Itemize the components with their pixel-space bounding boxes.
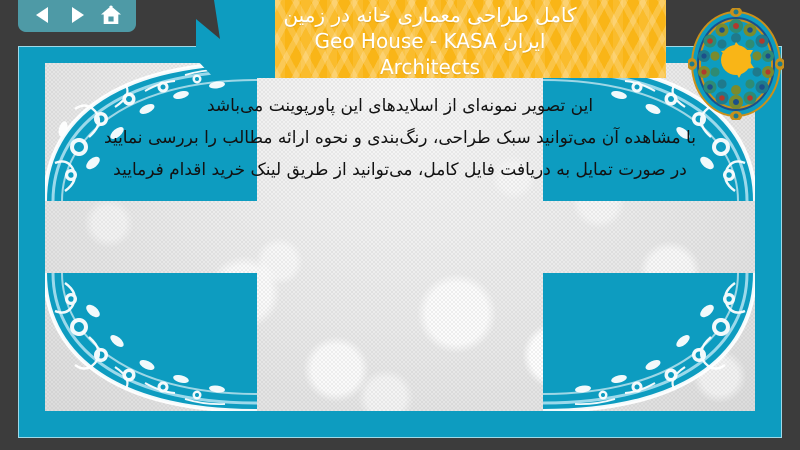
- home-button[interactable]: [98, 3, 124, 27]
- body-line-2: با مشاهده آن می‌توانید سبک طراحی، رنگ‌بن…: [40, 122, 760, 154]
- ornament-corner-bottom-left: [45, 273, 257, 411]
- slide-body-text: این تصویر نمونه‌ای از اسلایدهای این پاور…: [40, 90, 760, 186]
- ornament-corner-bottom-right: [543, 273, 755, 411]
- previous-slide-button[interactable]: [30, 3, 56, 27]
- body-line-3: در صورت تمایل به دریافت فایل کامل، می‌تو…: [40, 154, 760, 186]
- navigation-toolbar: [18, 0, 136, 32]
- body-line-1: این تصویر نمونه‌ای از اسلایدهای این پاور…: [40, 90, 760, 122]
- title-line-1: کامل طراحی معماری خانه در زمین: [180, 2, 680, 28]
- slide-title: کامل طراحی معماری خانه در زمین ایران Geo…: [180, 2, 680, 80]
- next-slide-button[interactable]: [64, 3, 90, 27]
- persian-medallion-ornament: [688, 8, 784, 120]
- title-line-3: Architects: [180, 54, 680, 80]
- title-line-2: ایران Geo House - KASA: [180, 28, 680, 54]
- home-icon: [100, 5, 122, 25]
- slide-canvas: کامل طراحی معماری خانه در زمین ایران Geo…: [0, 0, 800, 450]
- triangle-left-icon: [35, 6, 51, 24]
- triangle-right-icon: [69, 6, 85, 24]
